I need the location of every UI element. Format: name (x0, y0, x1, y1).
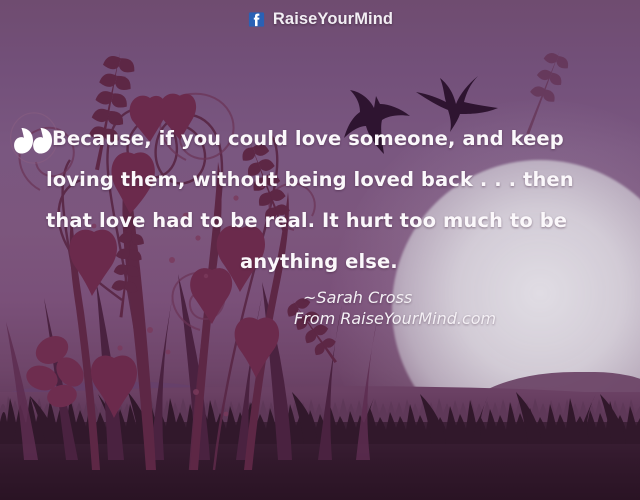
quote-text-block: Because, if you could love someone, and … (46, 118, 618, 282)
attribution-block: ~Sarah Cross From RaiseYourMind.com (303, 287, 623, 329)
quote-line-4: anything else. (46, 241, 618, 282)
quote-source: From RaiseYourMind.com (294, 308, 623, 329)
quote-line-2: loving them, without being loved back . … (46, 159, 618, 200)
quote-line-1: Because, if you could love someone, and … (46, 118, 618, 159)
facebook-icon[interactable] (247, 10, 266, 29)
quote-author: ~Sarah Cross (303, 287, 623, 308)
site-header: RaiseYourMind (0, 7, 640, 31)
quote-line-3: that love had to be real. It hurt too mu… (46, 200, 618, 241)
quote-image-canvas: RaiseYourMind Because, if you could love… (0, 0, 640, 500)
brand-name: RaiseYourMind (273, 10, 393, 29)
